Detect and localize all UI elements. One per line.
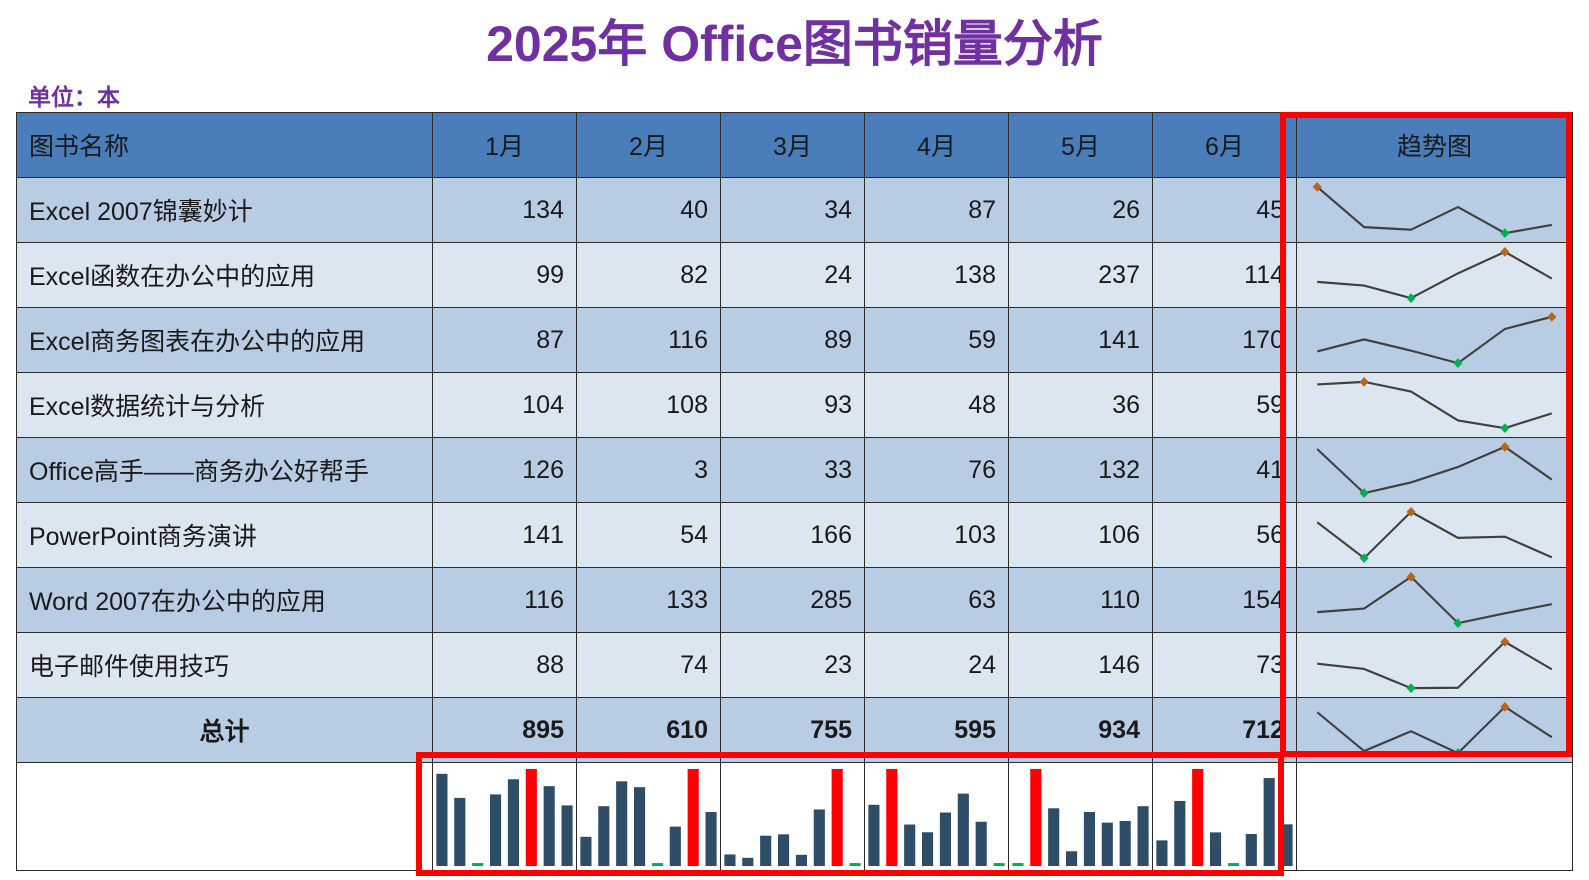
cell-trend-sparkline[interactable] [1297, 633, 1573, 698]
cell-sparkline-blank [17, 763, 433, 871]
cell-book-name[interactable]: Excel 2007锦囊妙计 [17, 178, 433, 243]
cell-month-4[interactable]: 87 [865, 178, 1009, 243]
cell-total-month-6[interactable]: 712 [1153, 698, 1297, 763]
cell-total-month-4[interactable]: 595 [865, 698, 1009, 763]
cell-book-name[interactable]: Excel商务图表在办公中的应用 [17, 308, 433, 373]
cell-month-4[interactable]: 138 [865, 243, 1009, 308]
cell-book-name[interactable]: PowerPoint商务演讲 [17, 503, 433, 568]
column-header-apr[interactable]: 4月 [865, 113, 1009, 178]
cell-trend-sparkline[interactable] [1297, 178, 1573, 243]
cell-month-1[interactable]: 134 [433, 178, 577, 243]
cell-month-5[interactable]: 110 [1009, 568, 1153, 633]
cell-total-month-3[interactable]: 755 [721, 698, 865, 763]
cell-month-5[interactable]: 36 [1009, 373, 1153, 438]
cell-month-4[interactable]: 48 [865, 373, 1009, 438]
table-row[interactable]: 电子邮件使用技巧8874232414673 [17, 633, 1573, 698]
cell-month-3[interactable]: 33 [721, 438, 865, 503]
cell-month-2[interactable]: 54 [577, 503, 721, 568]
cell-month-6[interactable]: 41 [1153, 438, 1297, 503]
cell-month-2[interactable]: 133 [577, 568, 721, 633]
cell-month-6[interactable]: 114 [1153, 243, 1297, 308]
cell-trend-sparkline[interactable] [1297, 373, 1573, 438]
cell-month-3[interactable]: 93 [721, 373, 865, 438]
sales-table-container: 图书名称 1月 2月 3月 4月 5月 6月 趋势图 Excel 2007锦囊妙… [16, 112, 1572, 871]
cell-month-4[interactable]: 59 [865, 308, 1009, 373]
table-row[interactable]: Excel函数在办公中的应用998224138237114 [17, 243, 1573, 308]
cell-month-2[interactable]: 40 [577, 178, 721, 243]
cell-sparkline-trailing-blank [1297, 763, 1573, 871]
cell-month-4[interactable]: 24 [865, 633, 1009, 698]
cell-month-1[interactable]: 88 [433, 633, 577, 698]
cell-month-1[interactable]: 104 [433, 373, 577, 438]
cell-month-2[interactable]: 116 [577, 308, 721, 373]
cell-trend-sparkline[interactable] [1297, 243, 1573, 308]
cell-book-name[interactable]: Word 2007在办公中的应用 [17, 568, 433, 633]
cell-month-4[interactable]: 76 [865, 438, 1009, 503]
cell-trend-sparkline[interactable] [1297, 568, 1573, 633]
cell-book-name[interactable]: Excel数据统计与分析 [17, 373, 433, 438]
cell-month-2[interactable]: 108 [577, 373, 721, 438]
cell-month-4[interactable]: 63 [865, 568, 1009, 633]
table-row[interactable]: Excel 2007锦囊妙计1344034872645 [17, 178, 1573, 243]
cell-month-1[interactable]: 116 [433, 568, 577, 633]
cell-month-5[interactable]: 106 [1009, 503, 1153, 568]
cell-month-3[interactable]: 23 [721, 633, 865, 698]
cell-month-5[interactable]: 146 [1009, 633, 1153, 698]
cell-column-sparkline-month-6[interactable] [1153, 763, 1297, 871]
table-row[interactable]: Excel数据统计与分析10410893483659 [17, 373, 1573, 438]
spreadsheet-page: 2025年 Office图书销量分析 单位：本 图书名称 1月 2月 3月 4月… [0, 0, 1589, 880]
column-header-mar[interactable]: 3月 [721, 113, 865, 178]
cell-month-1[interactable]: 87 [433, 308, 577, 373]
cell-column-sparkline-month-1[interactable] [433, 763, 577, 871]
cell-column-sparkline-month-4[interactable] [865, 763, 1009, 871]
cell-month-4[interactable]: 103 [865, 503, 1009, 568]
cell-month-5[interactable]: 26 [1009, 178, 1153, 243]
cell-month-6[interactable]: 154 [1153, 568, 1297, 633]
cell-column-sparkline-month-2[interactable] [577, 763, 721, 871]
cell-total-month-1[interactable]: 895 [433, 698, 577, 763]
cell-month-6[interactable]: 56 [1153, 503, 1297, 568]
cell-total-label[interactable]: 总计 [17, 698, 433, 763]
table-row[interactable]: Word 2007在办公中的应用11613328563110154 [17, 568, 1573, 633]
cell-trend-sparkline[interactable] [1297, 438, 1573, 503]
column-header-trend[interactable]: 趋势图 [1297, 113, 1573, 178]
cell-total-month-2[interactable]: 610 [577, 698, 721, 763]
cell-month-3[interactable]: 24 [721, 243, 865, 308]
cell-total-month-5[interactable]: 934 [1009, 698, 1153, 763]
cell-month-6[interactable]: 73 [1153, 633, 1297, 698]
cell-month-2[interactable]: 3 [577, 438, 721, 503]
cell-month-3[interactable]: 166 [721, 503, 865, 568]
cell-month-1[interactable]: 141 [433, 503, 577, 568]
column-header-feb[interactable]: 2月 [577, 113, 721, 178]
cell-month-6[interactable]: 170 [1153, 308, 1297, 373]
cell-month-2[interactable]: 74 [577, 633, 721, 698]
table-row[interactable]: Office高手——商务办公好帮手1263337613241 [17, 438, 1573, 503]
table-body: Excel 2007锦囊妙计1344034872645Excel函数在办公中的应… [17, 178, 1573, 871]
column-header-jan[interactable]: 1月 [433, 113, 577, 178]
table-row[interactable]: Excel商务图表在办公中的应用871168959141170 [17, 308, 1573, 373]
cell-book-name[interactable]: Office高手——商务办公好帮手 [17, 438, 433, 503]
cell-month-3[interactable]: 89 [721, 308, 865, 373]
column-header-may[interactable]: 5月 [1009, 113, 1153, 178]
cell-month-1[interactable]: 126 [433, 438, 577, 503]
cell-book-name[interactable]: 电子邮件使用技巧 [17, 633, 433, 698]
cell-month-3[interactable]: 285 [721, 568, 865, 633]
table-row-total[interactable]: 总计895610755595934712 [17, 698, 1573, 763]
cell-month-1[interactable]: 99 [433, 243, 577, 308]
sales-table: 图书名称 1月 2月 3月 4月 5月 6月 趋势图 Excel 2007锦囊妙… [16, 112, 1573, 871]
table-row[interactable]: PowerPoint商务演讲1415416610310656 [17, 503, 1573, 568]
table-header: 图书名称 1月 2月 3月 4月 5月 6月 趋势图 [17, 113, 1573, 178]
cell-month-6[interactable]: 45 [1153, 178, 1297, 243]
cell-total-trend-sparkline[interactable] [1297, 698, 1573, 763]
cell-month-5[interactable]: 132 [1009, 438, 1153, 503]
cell-month-3[interactable]: 34 [721, 178, 865, 243]
cell-book-name[interactable]: Excel函数在办公中的应用 [17, 243, 433, 308]
cell-month-5[interactable]: 141 [1009, 308, 1153, 373]
cell-month-5[interactable]: 237 [1009, 243, 1153, 308]
cell-column-sparkline-month-5[interactable] [1009, 763, 1153, 871]
cell-trend-sparkline[interactable] [1297, 503, 1573, 568]
column-header-jun[interactable]: 6月 [1153, 113, 1297, 178]
page-title: 2025年 Office图书销量分析 [0, 4, 1589, 76]
unit-label: 单位：本 [28, 78, 120, 112]
column-sparkline-row [17, 763, 1573, 871]
cell-column-sparkline-month-3[interactable] [721, 763, 865, 871]
column-header-book-name[interactable]: 图书名称 [17, 113, 433, 178]
header-row: 图书名称 1月 2月 3月 4月 5月 6月 趋势图 [17, 113, 1573, 178]
cell-month-2[interactable]: 82 [577, 243, 721, 308]
cell-trend-sparkline[interactable] [1297, 308, 1573, 373]
cell-month-6[interactable]: 59 [1153, 373, 1297, 438]
